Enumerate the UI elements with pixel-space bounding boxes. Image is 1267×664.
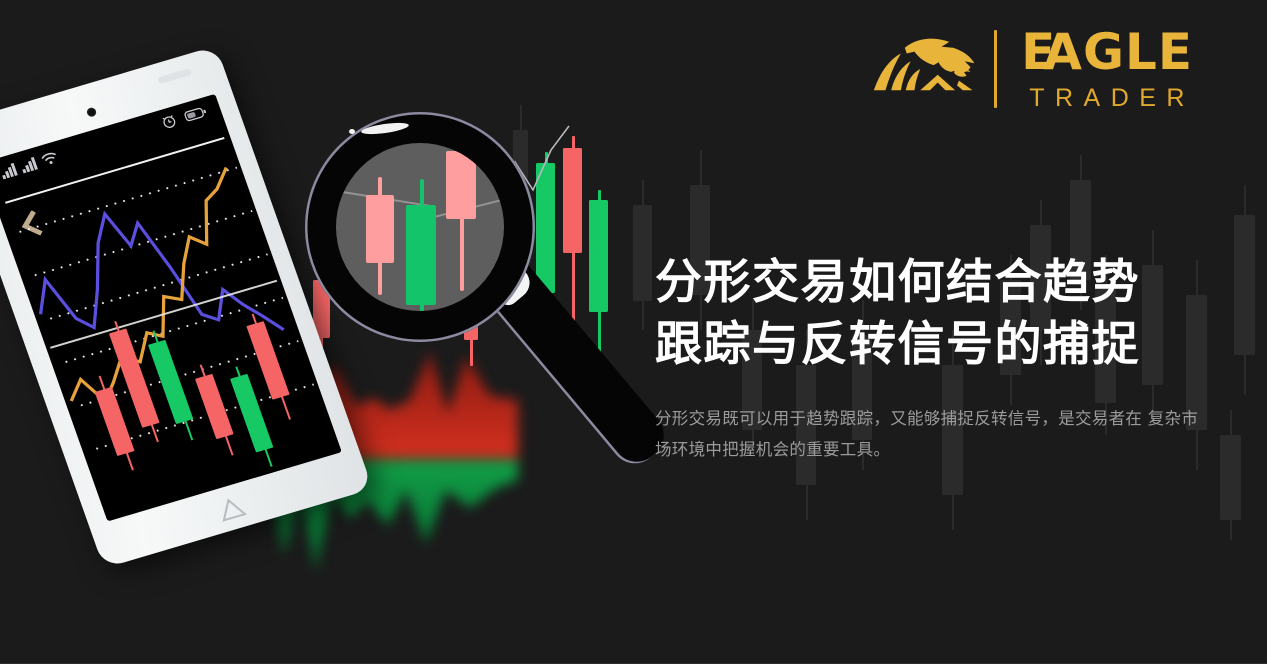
lens-highlight-dot bbox=[349, 129, 355, 134]
hero-text-block: 分形交易如何结合趋势 跟踪与反转信号的捕捉 分形交易既可以用于趋势跟踪，又能够捕… bbox=[655, 252, 1207, 465]
headline-line-2: 跟踪与反转信号的捕捉 bbox=[655, 314, 1207, 376]
logo-wordmark-eagle: EAGLE bbox=[1021, 27, 1193, 77]
subtitle-line-1: 分形交易既可以用于趋势跟踪，又能够捕捉反转信号，是交易者在 bbox=[655, 409, 1142, 428]
eagle-head-logo bbox=[870, 26, 986, 112]
headline-line-1: 分形交易如何结合趋势 bbox=[655, 255, 1140, 310]
logo-wordmark-trader: TRADER bbox=[1029, 86, 1195, 111]
logo-divider bbox=[994, 30, 997, 108]
hero-subtitle: 分形交易既可以用于趋势跟踪，又能够捕捉反转信号，是交易者在 复杂市场环境中把握机… bbox=[655, 404, 1207, 465]
magnifier-glass bbox=[305, 112, 535, 342]
page-title: 分形交易如何结合趋势 跟踪与反转信号的捕捉 bbox=[655, 252, 1207, 376]
magnifier-lens bbox=[336, 143, 504, 311]
brand-logo[interactable]: EAGLE TRADER bbox=[870, 26, 1195, 112]
hero-banner: EAGLE TRADER 分形交易如何结合趋势 跟踪与反转信号的捕捉 分形交易既… bbox=[0, 0, 1267, 664]
